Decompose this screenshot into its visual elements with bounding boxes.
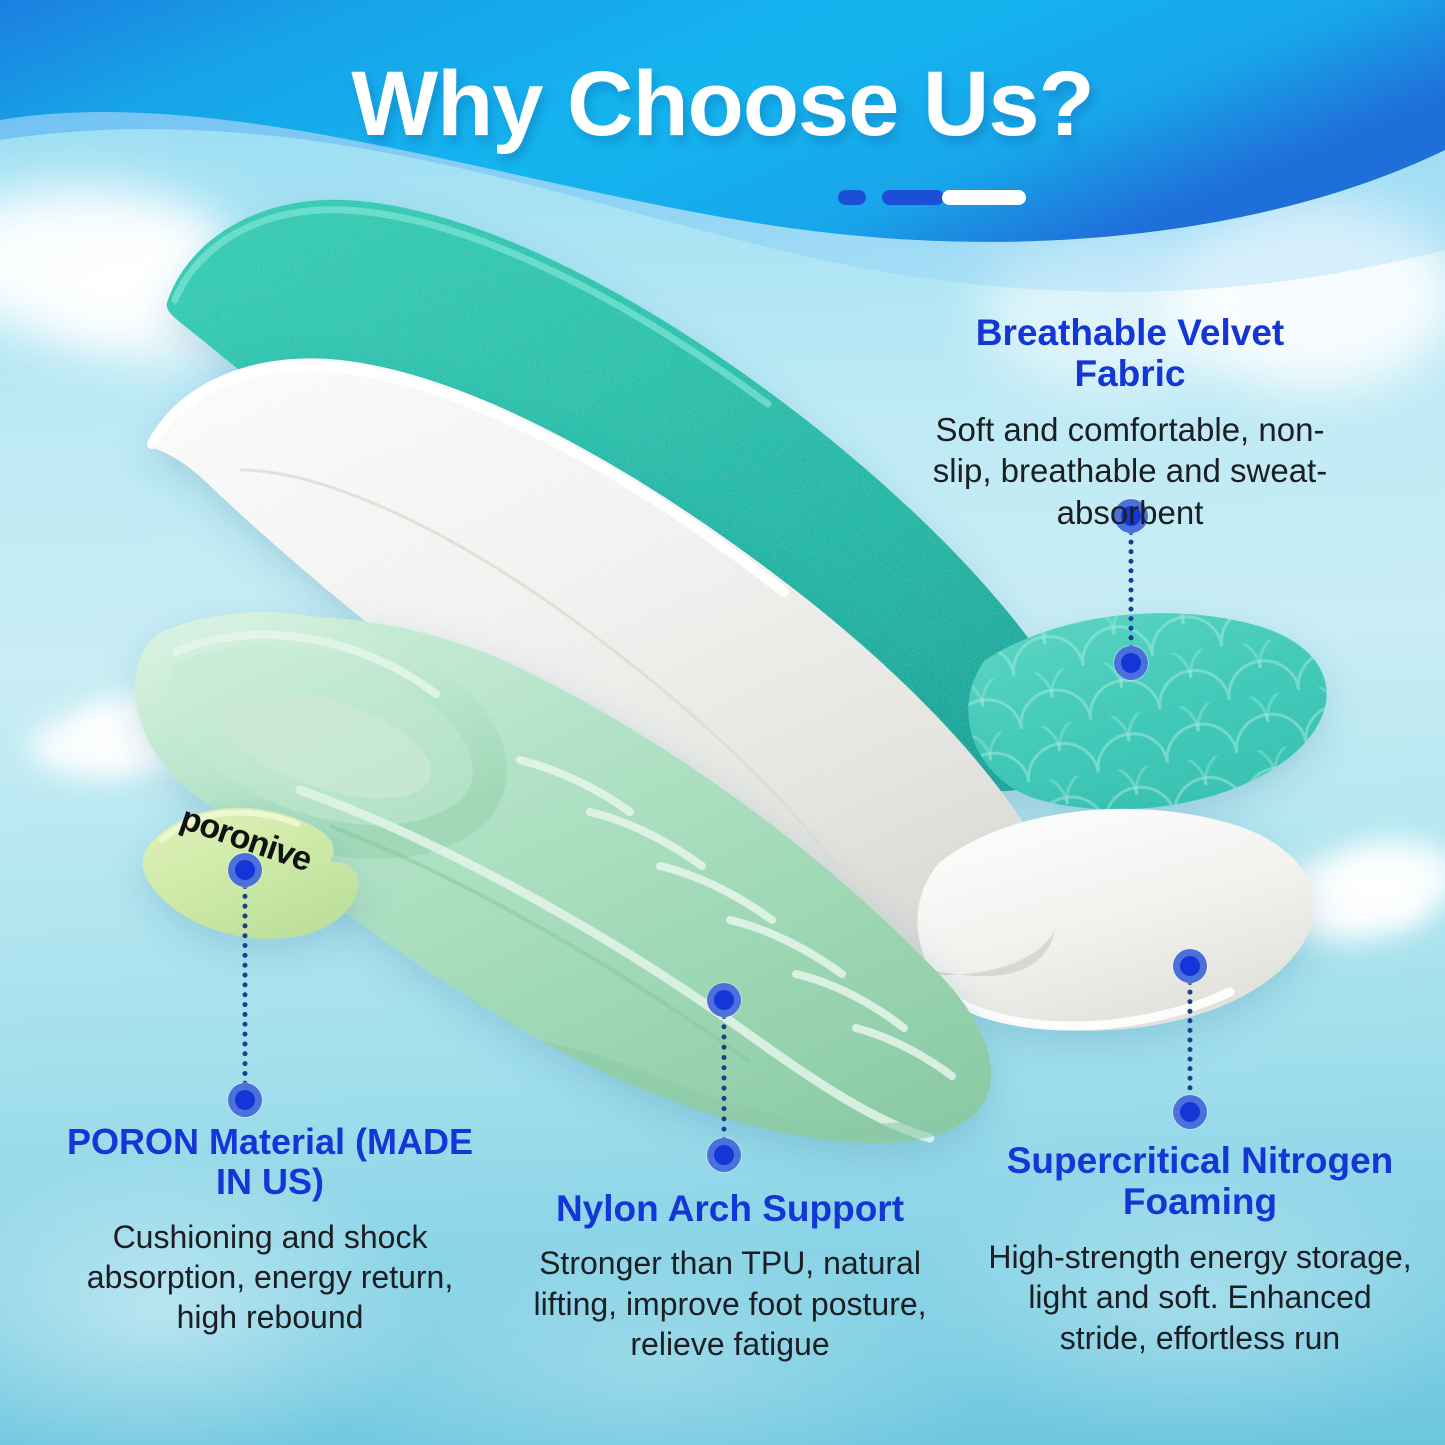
foam-rim-highlight xyxy=(152,366,784,592)
leader-line-poron xyxy=(243,884,248,1086)
marker-nitrogen-bottom[interactable] xyxy=(1173,1095,1207,1129)
pager-dot-1[interactable] xyxy=(838,190,866,205)
header-banner xyxy=(0,0,1445,330)
nylon-under-shadow xyxy=(540,1040,990,1143)
foam-heel-pad xyxy=(918,809,1314,1031)
marker-velvet-bottom[interactable] xyxy=(1114,646,1148,680)
feature-nitrogen: Supercritical Nitrogen Foaming High-stre… xyxy=(985,1140,1415,1358)
cloud-mid-left xyxy=(75,690,265,770)
feature-velvet-body: Soft and comfortable, non-slip, breathab… xyxy=(930,409,1330,534)
feature-nylon: Nylon Arch Support Stronger than TPU, na… xyxy=(495,1188,965,1364)
cloud-mid-left-2 xyxy=(30,715,160,777)
feature-nitrogen-title: Supercritical Nitrogen Foaming xyxy=(985,1140,1415,1223)
feature-poron: PORON Material (MADE IN US) Cushioning a… xyxy=(55,1122,485,1338)
feature-poron-title: PORON Material (MADE IN US) xyxy=(55,1122,485,1203)
cloud-right xyxy=(1255,860,1435,940)
feature-poron-body: Cushioning and shock absorption, energy … xyxy=(55,1217,485,1338)
poron-logo-text: poron xyxy=(176,799,275,865)
cloud-mid-left-3 xyxy=(170,722,280,774)
foam-under-shadow xyxy=(640,828,1055,976)
leader-line-nylon xyxy=(722,1014,727,1142)
cloud-right-2 xyxy=(1330,840,1445,910)
leader-line-nitrogen xyxy=(1188,980,1193,1100)
feature-velvet-title: Breathable Velvet Fabric xyxy=(930,312,1330,395)
nylon-heel-cup-ring xyxy=(152,629,490,842)
nylon-heel-opening xyxy=(219,693,431,798)
poron-logo-suffix: ive xyxy=(262,829,316,879)
feature-nylon-body: Stronger than TPU, natural lifting, impr… xyxy=(495,1243,965,1364)
marker-poron-bottom[interactable] xyxy=(228,1083,262,1117)
marker-nylon-top[interactable] xyxy=(707,983,741,1017)
feature-nylon-title: Nylon Arch Support xyxy=(495,1188,965,1229)
feature-velvet: Breathable Velvet Fabric Soft and comfor… xyxy=(930,312,1330,534)
marker-nitrogen-top[interactable] xyxy=(1173,949,1207,983)
nylon-spine-shadow xyxy=(330,826,750,1062)
pager-dot-2[interactable] xyxy=(882,190,944,205)
foam-inner-crease xyxy=(240,470,840,872)
nylon-arch-layer xyxy=(139,616,991,1143)
velvet-heel-pad xyxy=(968,613,1326,809)
pagination-indicator[interactable] xyxy=(838,190,1026,205)
feature-nitrogen-body: High-strength energy storage, light and … xyxy=(985,1237,1415,1358)
nylon-body xyxy=(139,616,991,1143)
marker-poron-top[interactable] xyxy=(228,853,262,887)
velvet-heel-scallop-texture xyxy=(940,590,1370,840)
leader-line-velvet xyxy=(1129,530,1134,650)
foam-body xyxy=(149,358,1064,976)
nylon-rib-texture xyxy=(520,760,952,1076)
poron-pad-highlight xyxy=(162,813,298,840)
pager-dot-3-active[interactable] xyxy=(942,190,1026,205)
product-infographic-poster: Why Choose Us? xyxy=(0,0,1445,1445)
nylon-ring-highlight xyxy=(176,635,436,694)
page-title: Why Choose Us? xyxy=(0,52,1445,157)
marker-nylon-bottom[interactable] xyxy=(707,1138,741,1172)
nylon-spine-highlight xyxy=(300,790,930,1138)
